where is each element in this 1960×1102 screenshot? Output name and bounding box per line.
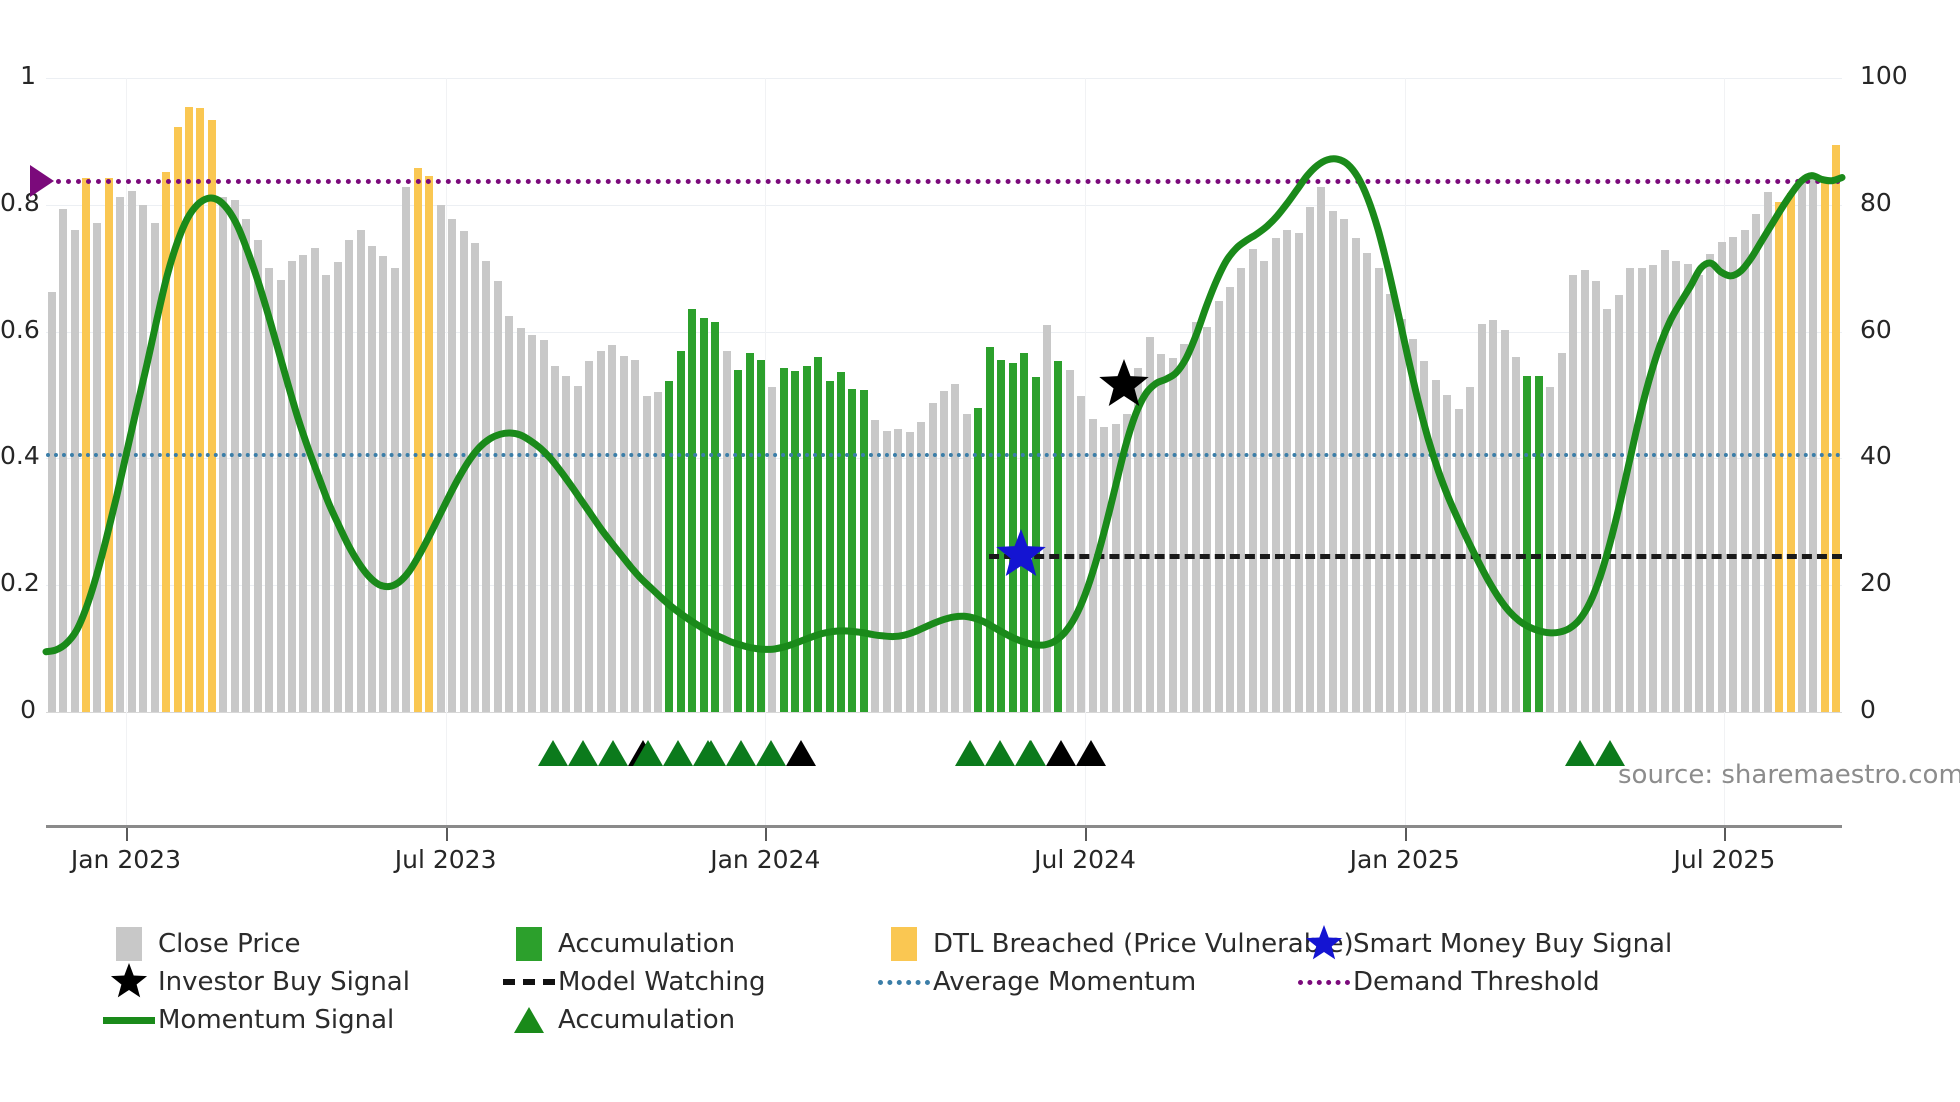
bar-close-price [1809,176,1817,712]
bar-close-price [1169,358,1177,712]
x-tick-label: Jul 2023 [395,845,497,874]
legend-close-price[interactable]: Close Price [100,925,301,963]
bar-dtl-breached [185,107,193,712]
bar-accumulation [734,370,742,712]
bar-close-price [1695,275,1703,712]
bar-close-price [1340,219,1348,712]
bar-close-price [1603,309,1611,712]
bar-accumulation [791,371,799,712]
legend-investor-buy[interactable]: Investor Buy Signal [100,963,410,1001]
star-icon [1295,925,1353,963]
reference-line-demand-threshold [46,179,1842,184]
y-tick-right: 60 [1860,315,1892,344]
bar-close-price [437,205,445,712]
chart-root: 10.80.60.40.20 100806040200 Jan 2023Jul … [0,0,1960,1102]
accumulation-triangle-icon [1016,740,1046,766]
legend-accumulation-bar[interactable]: Accumulation [500,925,735,963]
bar-close-price [574,386,582,713]
legend-smart-money-buy[interactable]: Smart Money Buy Signal [1295,925,1672,963]
bar-dtl-breached [196,108,204,712]
accumulation-triangle-icon [1565,740,1595,766]
investor-buy-star-icon [1097,358,1151,412]
y-tick-right: 80 [1860,188,1892,217]
legend-label: Accumulation [558,1001,735,1039]
bar-close-price [585,361,593,712]
bar-close-price [1398,319,1406,712]
bar-close-price [357,230,365,712]
accumulation-triangle-black-icon [1046,740,1076,766]
bar-close-price [1329,211,1337,712]
bar-close-price [1249,249,1257,712]
x-tick-label: Jul 2025 [1673,845,1775,874]
bar-close-price [1706,254,1714,712]
bar-close-price [951,384,959,712]
bar-close-price [1409,339,1417,712]
gridline-horizontal [46,205,1842,206]
accumulation-triangle-icon [663,740,693,766]
bar-close-price [460,231,468,712]
bar-close-price [1764,192,1772,712]
bar-close-price [1295,233,1303,712]
x-tick-mark [765,828,767,841]
bar-close-price [1478,324,1486,712]
bar-close-price [368,246,376,712]
bar-dtl-breached [1821,178,1829,712]
legend-row: Momentum SignalAccumulation [100,1001,1930,1039]
bar-close-price [139,205,147,712]
bar-close-price [1466,387,1474,712]
bar-close-price [1043,325,1051,712]
color-swatch-icon [100,925,158,963]
bar-close-price [1283,230,1291,712]
accumulation-triangle-icon [598,740,628,766]
bar-close-price [1260,261,1268,712]
bar-accumulation [757,360,765,713]
gridline-vertical [126,78,127,712]
dotted-line-icon [875,963,933,1001]
solid-line-icon [100,1001,158,1039]
bar-close-price [551,366,559,712]
accumulation-triangle-icon [538,740,568,766]
bar-close-price [1638,268,1646,712]
bar-close-price [277,280,285,712]
y-tick-left: 0.6 [0,315,36,344]
reference-line-model-watching [989,554,1842,559]
bar-dtl-breached [208,120,216,712]
bar-close-price [917,422,925,712]
bar-close-price [1512,357,1520,712]
bar-close-price [620,356,628,712]
accumulation-triangle-icon [568,740,598,766]
accumulation-triangle-icon [633,740,663,766]
bar-dtl-breached [1832,145,1840,712]
bar-close-price [1546,387,1554,712]
color-swatch-icon [500,925,558,963]
legend-dtl-breached[interactable]: DTL Breached (Price Vulnerable) [875,925,1354,963]
x-tick-mark [446,828,448,841]
dashed-line-icon [500,963,558,1001]
legend-average-momentum[interactable]: Average Momentum [875,963,1196,1001]
bar-close-price [562,376,570,712]
bar-close-price [608,345,616,712]
gridline-vertical [446,78,447,712]
x-tick-label: Jan 2023 [71,845,181,874]
smart-money-buy-star-icon [994,528,1048,582]
legend-demand-threshold[interactable]: Demand Threshold [1295,963,1600,1001]
bar-close-price [1729,237,1737,713]
bar-accumulation [837,372,845,712]
bar-close-price [929,403,937,712]
x-tick-label: Jan 2024 [710,845,820,874]
bar-close-price [1100,427,1108,712]
bar-close-price [1581,270,1589,712]
gridline-horizontal [46,712,1842,713]
legend-label: DTL Breached (Price Vulnerable) [933,925,1354,963]
accumulation-triangle-strip [46,740,1842,780]
bar-close-price [1672,261,1680,712]
reference-line-average-momentum [46,453,1842,457]
legend-label: Close Price [158,925,301,963]
y-tick-right: 100 [1860,61,1908,90]
x-tick-mark [1724,828,1726,841]
bar-close-price [1375,268,1383,712]
color-swatch-icon [875,925,933,963]
bar-close-price [631,360,639,713]
bar-close-price [471,243,479,712]
bar-close-price [768,387,776,712]
bar-close-price [1157,354,1165,712]
legend-momentum-signal[interactable]: Momentum Signal [100,1001,394,1039]
bar-dtl-breached [105,178,113,712]
bar-close-price [1718,242,1726,712]
bar-close-price [1615,295,1623,712]
bar-close-price [128,191,136,712]
bar-close-price [883,431,891,712]
bar-dtl-breached [174,127,182,712]
bar-close-price [1180,344,1188,712]
x-tick-mark [126,828,128,841]
bar-close-price [1226,287,1234,712]
bar-accumulation [986,347,994,712]
plot-area [46,78,1842,712]
bar-close-price [448,219,456,712]
bar-accumulation [677,351,685,712]
bar-close-price [1489,320,1497,712]
bar-close-price [871,420,879,712]
bar-close-price [654,392,662,712]
bar-close-price [242,219,250,712]
bar-close-price [391,268,399,712]
legend-model-watching[interactable]: Model Watching [500,963,765,1001]
y-tick-left: 0 [0,695,36,724]
bar-close-price [379,256,387,712]
bar-accumulation [1535,376,1543,712]
x-tick-label: Jan 2025 [1350,845,1460,874]
accumulation-triangle-icon [955,740,985,766]
bar-close-price [1123,414,1131,712]
bar-close-price [345,240,353,712]
bar-close-price [505,316,513,712]
y-tick-right: 20 [1860,568,1892,597]
bar-accumulation [700,318,708,712]
bar-accumulation [860,390,868,712]
bar-close-price [1420,361,1428,712]
bar-accumulation [803,366,811,712]
bar-close-price [1569,275,1577,712]
x-axis-line [46,825,1842,828]
bar-accumulation [814,357,822,712]
bar-close-price [1501,330,1509,712]
gridline-vertical [765,78,766,712]
bar-close-price [93,223,101,712]
legend-label: Average Momentum [933,963,1196,1001]
y-tick-right: 40 [1860,441,1892,470]
bar-close-price [1112,424,1120,712]
bar-close-price [1237,268,1245,712]
bar-accumulation [746,353,754,712]
bar-close-price [1386,294,1394,712]
accumulation-triangle-icon [756,740,786,766]
bar-close-price [1352,238,1360,712]
bar-close-price [402,187,410,712]
legend-label: Model Watching [558,963,765,1001]
bar-accumulation [1523,376,1531,712]
y-tick-left: 1 [0,61,36,90]
accumulation-triangle-icon [985,740,1015,766]
bar-close-price [517,328,525,712]
accumulation-triangle-icon [696,740,726,766]
bar-close-price [71,230,79,712]
accumulation-triangle-black-icon [786,740,816,766]
bar-close-price [1661,250,1669,712]
legend-label: Accumulation [558,925,735,963]
bar-close-price [540,340,548,712]
bar-close-price [1741,230,1749,712]
bar-close-price [288,261,296,712]
bar-close-price [482,261,490,712]
x-tick-mark [1405,828,1407,841]
legend-row: Investor Buy SignalModel WatchingAverage… [100,963,1930,1001]
bar-close-price [1432,380,1440,712]
bar-close-price [1192,322,1200,712]
bar-dtl-breached [425,176,433,712]
accumulation-triangle-icon [726,740,756,766]
legend-row: Close PriceAccumulationDTL Breached (Pri… [100,925,1930,963]
bar-accumulation [665,381,673,712]
legend-label: Smart Money Buy Signal [1353,925,1672,963]
bar-close-price [322,275,330,712]
x-tick-label: Jul 2024 [1034,845,1136,874]
bar-accumulation [848,389,856,712]
bar-close-price [894,429,902,712]
bar-close-price [254,240,262,712]
bar-close-price [1649,265,1657,712]
bar-close-price [1592,281,1600,712]
chart-legend: Close PriceAccumulationDTL Breached (Pri… [100,925,1930,1039]
source-attribution: source: sharemaestro.com [1618,760,1960,790]
bar-close-price [597,351,605,712]
bar-close-price [1089,419,1097,712]
y-tick-left: 0.4 [0,441,36,470]
legend-label: Momentum Signal [158,1001,394,1039]
legend-accumulation-triangle[interactable]: Accumulation [500,1001,735,1039]
bar-accumulation [826,381,834,712]
bar-accumulation [1054,361,1062,712]
legend-label: Investor Buy Signal [158,963,410,1001]
bar-accumulation [711,322,719,712]
bar-close-price [1684,264,1692,712]
bar-close-price [1626,268,1634,712]
bar-close-price [528,335,536,712]
bar-close-price [59,209,67,712]
star-icon [100,963,158,1001]
bar-dtl-breached [162,172,170,712]
bar-close-price [1066,370,1074,712]
bar-close-price [265,268,273,712]
x-tick-mark [1085,828,1087,841]
bar-close-price [299,255,307,712]
legend-label: Demand Threshold [1353,963,1600,1001]
bar-close-price [494,281,502,712]
bar-close-price [1798,181,1806,712]
bar-close-price [311,248,319,712]
bar-close-price [1203,327,1211,712]
bar-close-price [1306,207,1314,712]
bar-close-price [48,292,56,712]
bar-close-price [1272,238,1280,712]
y-tick-right: 0 [1860,695,1876,724]
triangle-icon [500,1001,558,1039]
bar-close-price [151,223,159,712]
bar-accumulation [688,309,696,712]
y-tick-left: 0.2 [0,568,36,597]
bar-close-price [963,414,971,712]
bar-close-price [643,396,651,712]
bar-dtl-breached [414,168,422,712]
bar-close-price [723,351,731,712]
demand-threshold-marker [30,165,54,197]
bar-close-price [1363,253,1371,712]
bar-close-price [334,262,342,712]
bar-close-price [940,391,948,712]
dotted-line-icon [1295,963,1353,1001]
bar-close-price [1558,353,1566,712]
bar-close-price [1317,187,1325,712]
bar-close-price [906,432,914,712]
bar-close-price [1134,368,1142,712]
bar-close-price [1752,214,1760,712]
bar-dtl-breached [82,178,90,712]
accumulation-triangle-black-icon [1076,740,1106,766]
bar-accumulation [780,368,788,712]
bar-close-price [1215,301,1223,712]
gridline-horizontal [46,78,1842,79]
